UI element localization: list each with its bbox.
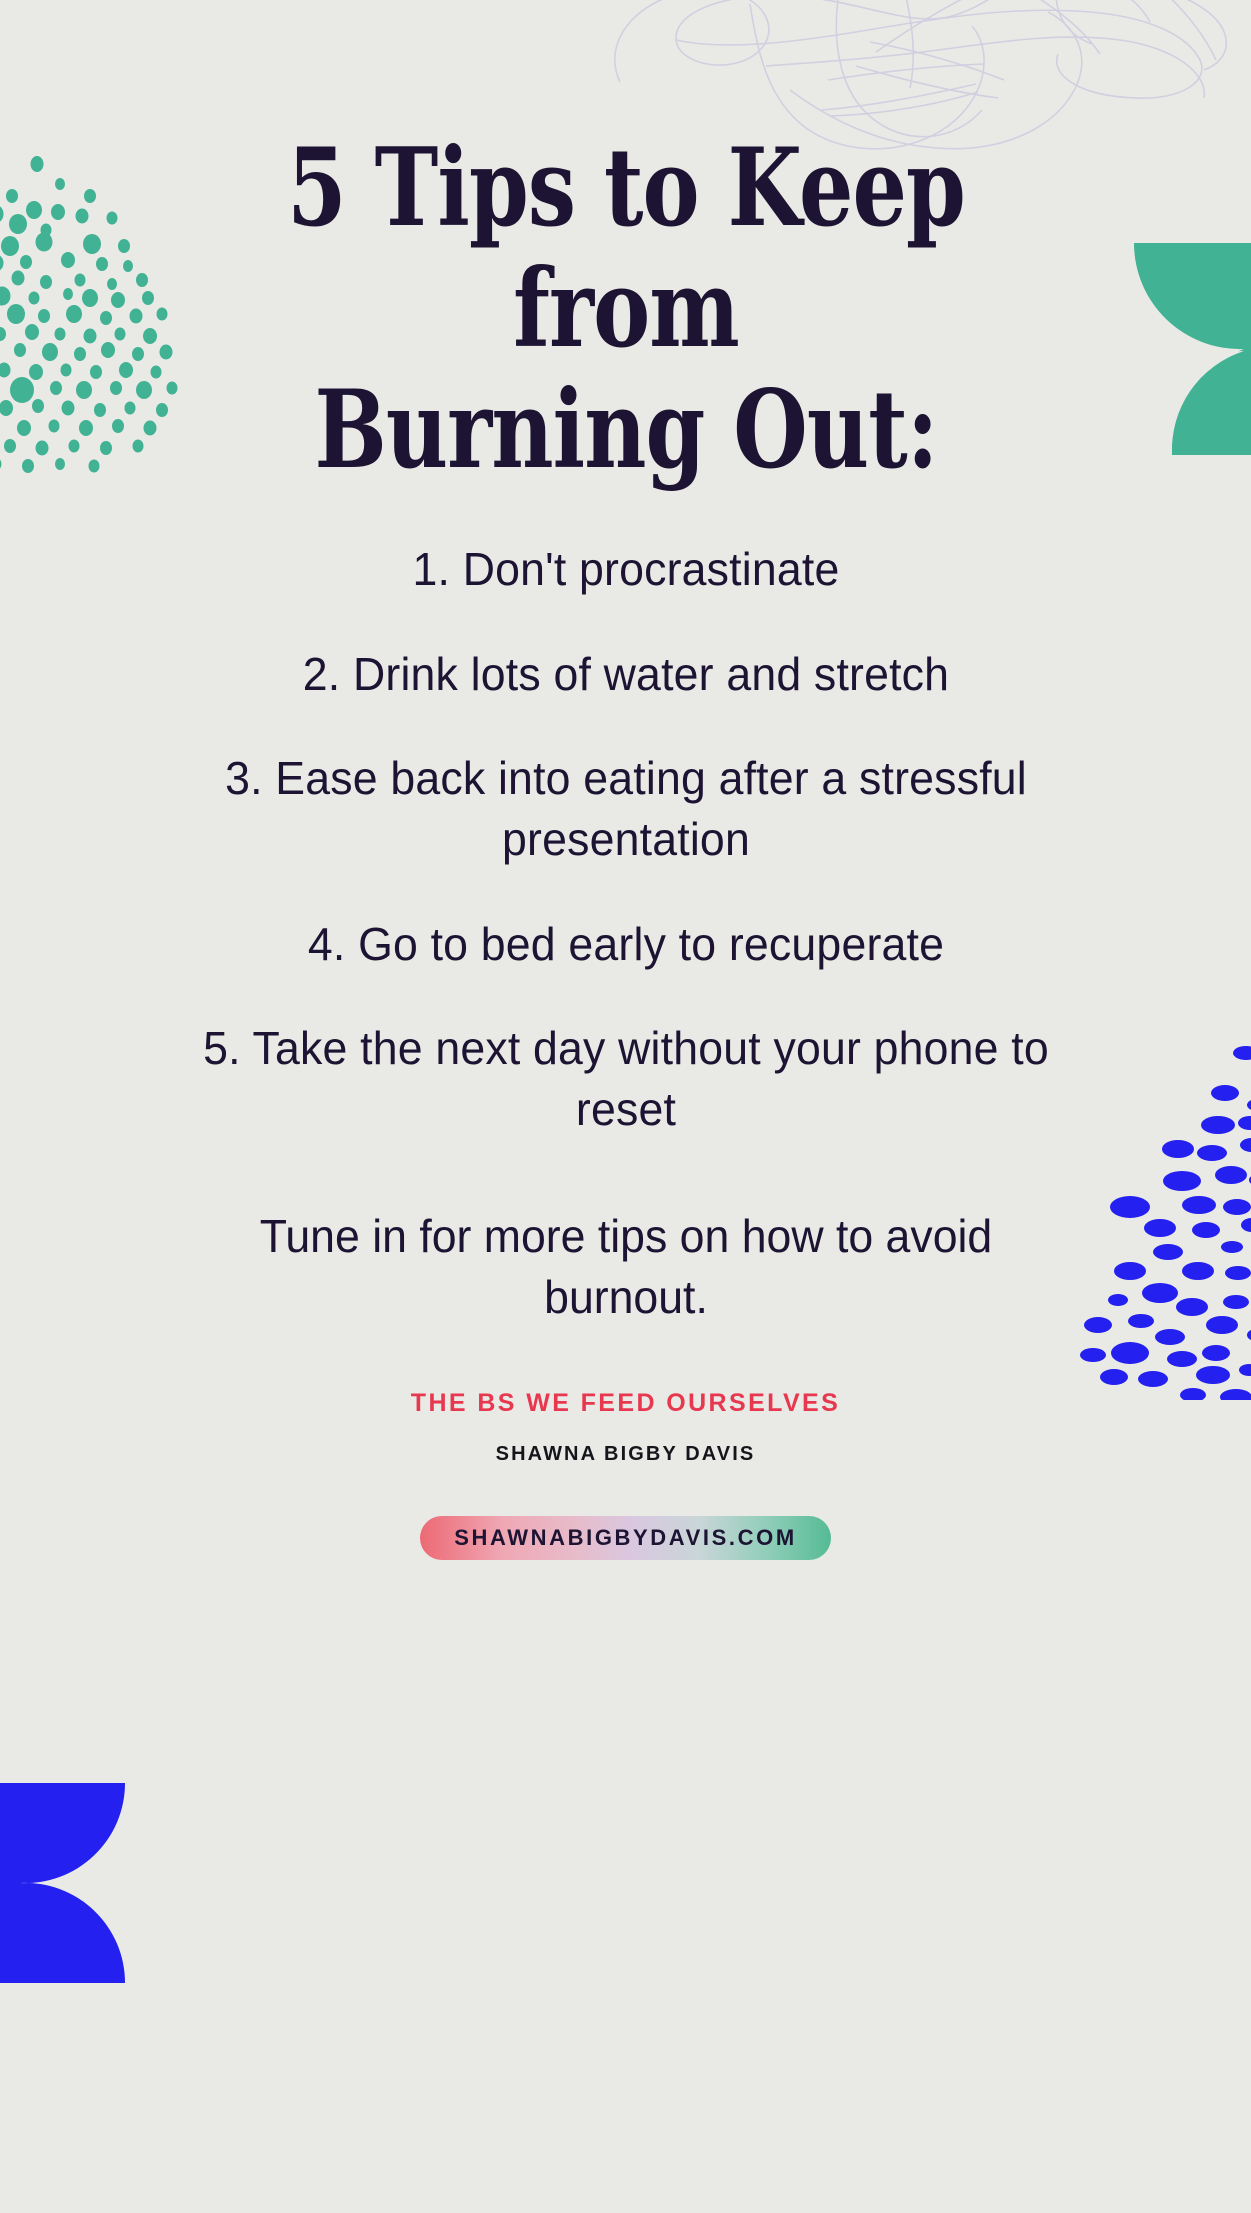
- list-item: 2. Drink lots of water and stretch: [189, 644, 1062, 705]
- tips-list: 1. Don't procrastinate 2. Drink lots of …: [126, 539, 1126, 1327]
- poster-content: 5 Tips to Keep from Burning Out: 1. Don'…: [0, 0, 1251, 2213]
- list-item: 5. Take the next day without your phone …: [189, 1018, 1062, 1139]
- list-item: 3. Ease back into eating after a stressf…: [189, 748, 1062, 869]
- title-line-2: from: [203, 249, 1048, 370]
- brand-name: THE BS WE FEED OURSELVES: [411, 1389, 840, 1418]
- list-item: 4. Go to bed early to recuperate: [189, 914, 1062, 975]
- list-item: 1. Don't procrastinate: [189, 539, 1062, 600]
- author-name: SHAWNA BIGBY DAVIS: [496, 1443, 756, 1466]
- title-line-1: 5 Tips to Keep: [203, 128, 1048, 249]
- page-title: 5 Tips to Keep from Burning Out:: [203, 128, 1048, 491]
- title-line-3: Burning Out:: [203, 370, 1048, 491]
- outro-text: Tune in for more tips on how to avoid bu…: [189, 1206, 1062, 1327]
- website-pill-button[interactable]: SHAWNABIGBYDAVIS.COM: [420, 1516, 831, 1560]
- infographic-poster: 5 Tips to Keep from Burning Out: 1. Don'…: [0, 0, 1251, 2213]
